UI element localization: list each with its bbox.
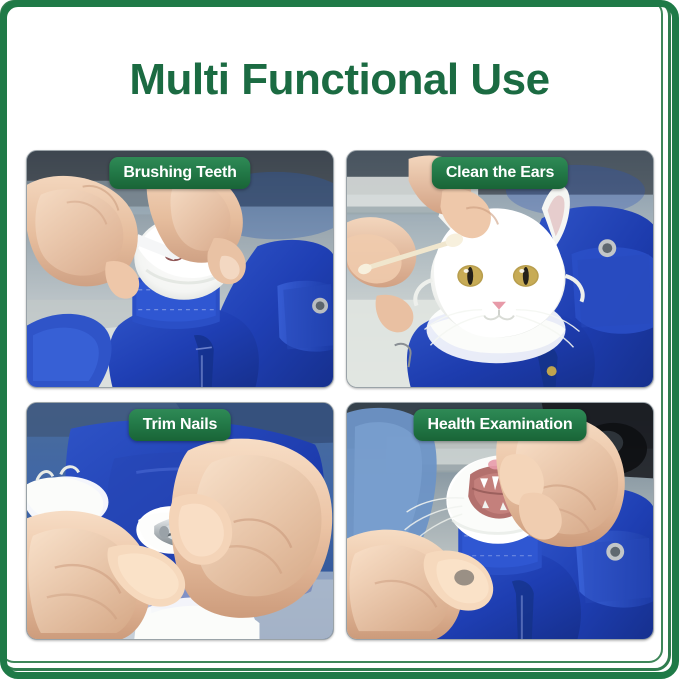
page-title: Multi Functional Use [0, 54, 679, 106]
caption-clean-the-ears: Clean the Ears [432, 157, 568, 189]
panel-trim-nails[interactable]: Trim Nails [26, 402, 334, 640]
panel-grid: Brushing Teeth [26, 150, 654, 640]
panel-brushing-teeth[interactable]: Brushing Teeth [26, 150, 334, 388]
panel-clean-the-ears[interactable]: Clean the Ears [346, 150, 654, 388]
panel-health-examination[interactable]: Health Examination [346, 402, 654, 640]
product-infographic: Multi Functional Use [0, 0, 679, 679]
caption-trim-nails: Trim Nails [129, 409, 231, 441]
infographic-content: Multi Functional Use [0, 0, 679, 679]
caption-brushing-teeth: Brushing Teeth [109, 157, 250, 189]
caption-health-examination: Health Examination [414, 409, 587, 441]
